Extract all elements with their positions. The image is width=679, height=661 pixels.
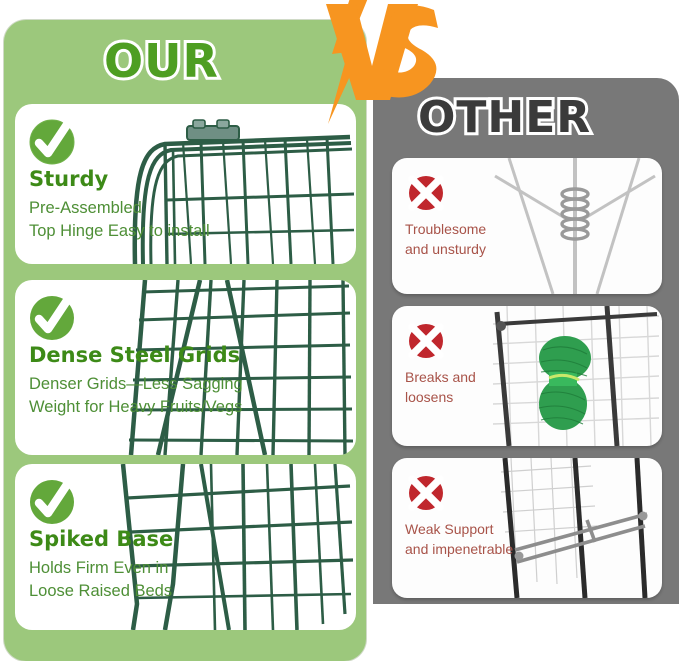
our-card-1-title: Sturdy [29,168,356,190]
our-feature-card: Dense Steel Grids Denser Grids—Less Sagg… [15,280,356,455]
other-card-1-line-2: and unsturdy [405,240,662,260]
our-header-title: OUR [104,34,219,88]
our-card-3-line-1: Holds Firm Even in [29,557,356,580]
our-card-3-line-2: Loose Raised Beds [29,580,356,603]
other-card-3-line-1: Weak Support [405,520,662,540]
other-card-3-line-2: and impenetrable [405,540,662,560]
check-circle-icon [27,114,79,166]
our-card-1-line-1: Pre-Assembled [29,197,356,220]
comparison-infographic: OUR OTHER [0,0,679,661]
our-card-2-body: Dense Steel Grids Denser Grids—Less Sagg… [15,280,356,419]
our-feature-card: Sturdy Pre-Assembled Top Hinge Easy to i… [15,104,356,264]
other-card-2-body: Breaks and loosens [392,306,662,407]
other-feature-card: Weak Support and impenetrable [392,458,662,598]
our-card-3-title: Spiked Base [29,528,356,550]
cross-circle-icon [405,472,447,514]
other-card-1-body: Troublesome and unsturdy [392,158,662,259]
cross-circle-icon [405,320,447,362]
other-header-title: OTHER [418,92,591,143]
other-feature-card: Troublesome and unsturdy [392,158,662,294]
our-card-2-title: Dense Steel Grids [29,344,356,366]
other-card-2-line-2: loosens [405,388,662,408]
other-card-2-line-1: Breaks and [405,368,662,388]
our-feature-card: Spiked Base Holds Firm Even in Loose Rai… [15,464,356,630]
other-feature-card: Breaks and loosens [392,306,662,446]
other-card-3-body: Weak Support and impenetrable [392,458,662,559]
our-card-1-line-2: Top Hinge Easy to install [29,220,356,243]
our-card-3-body: Spiked Base Holds Firm Even in Loose Rai… [15,464,356,603]
cross-circle-icon [405,172,447,214]
other-card-1-line-1: Troublesome [405,220,662,240]
our-card-2-line-1: Denser Grids—Less Sagging [29,373,356,396]
our-card-2-line-2: Weight for Heavy Fruits/Vegs [29,396,356,419]
check-circle-icon [27,290,79,342]
check-circle-icon [27,474,79,526]
our-card-1-body: Sturdy Pre-Assembled Top Hinge Easy to i… [15,104,356,243]
